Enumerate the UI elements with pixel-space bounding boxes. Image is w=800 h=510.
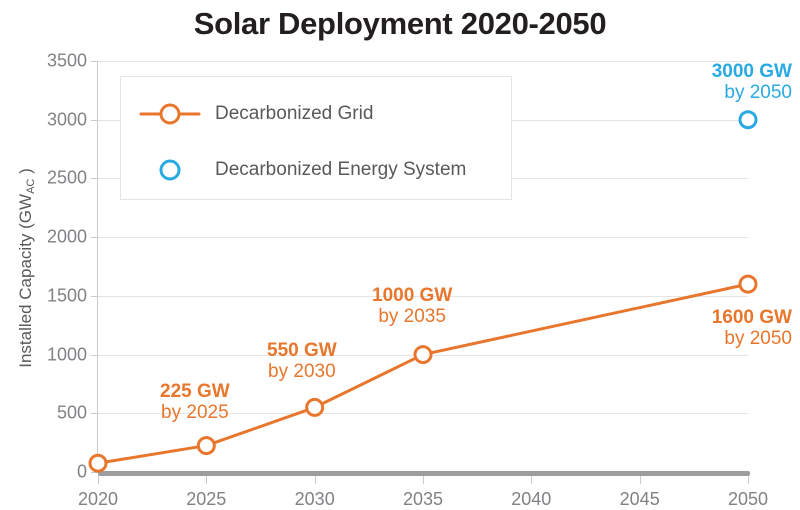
x-tick-mark-2045 [640, 476, 641, 484]
annotation-550gw-line2: by 2030 [267, 362, 337, 383]
annotation-1000gw: 1000 GW by 2035 [372, 286, 452, 327]
annotation-1000gw-line2: by 2035 [372, 307, 452, 328]
y-tick-mark-2500 [91, 178, 98, 179]
y-tick-mark-500 [91, 413, 98, 414]
x-tick-mark-2035 [423, 476, 424, 484]
x-tick-mark-2020 [98, 476, 99, 484]
x-tick-label-2030: 2030 [295, 489, 335, 510]
annotation-3000gw: 3000 GW by 2050 [712, 62, 792, 103]
x-tick-label-2035: 2035 [403, 489, 443, 510]
x-tick-label-2040: 2040 [511, 489, 551, 510]
y-tick-label-500: 500 [57, 403, 87, 424]
y-tick-label-0: 0 [77, 462, 87, 483]
page-title: Solar Deployment 2020-2050 [0, 6, 800, 42]
x-tick-label-2020: 2020 [78, 489, 118, 510]
annotation-1600gw-line1: 1600 GW [712, 308, 792, 329]
annotation-1600gw-line2: by 2050 [712, 329, 792, 350]
y-tick-label-2000: 2000 [47, 227, 87, 248]
decarbonized-energy-system-markers [740, 112, 756, 128]
annotation-225gw: 225 GW by 2025 [160, 382, 230, 423]
legend-label-decarbonized-energy-system: Decarbonized Energy System [215, 159, 466, 181]
y-tick-label-3000: 3000 [47, 109, 87, 130]
y-tick-mark-1000 [91, 355, 98, 356]
y-axis-title: Installed Capacity (GWAC ) [16, 108, 36, 428]
annotation-550gw-line1: 550 GW [267, 341, 337, 362]
y-tick-label-1000: 1000 [47, 344, 87, 365]
data-point [740, 276, 756, 292]
y-tick-mark-3000 [91, 120, 98, 121]
x-tick-mark-2025 [206, 476, 207, 484]
chart-canvas: Solar Deployment 2020-2050 Installed Cap… [0, 0, 800, 510]
annotation-3000gw-line2: by 2050 [712, 83, 792, 104]
legend-open-circle-icon [139, 157, 201, 183]
y-tick-label-1500: 1500 [47, 285, 87, 306]
x-tick-mark-2040 [531, 476, 532, 484]
annotation-550gw: 550 GW by 2030 [267, 341, 337, 382]
annotation-1600gw: 1600 GW by 2050 [712, 308, 792, 349]
data-point [198, 438, 214, 454]
data-point [415, 347, 431, 363]
x-tick-label-2045: 2045 [620, 489, 660, 510]
legend-item-decarbonized-grid[interactable]: Decarbonized Grid [139, 101, 373, 127]
data-point [90, 455, 106, 471]
y-axis-title-subscript: AC [25, 179, 37, 194]
y-tick-mark-1500 [91, 296, 98, 297]
data-point [740, 112, 756, 128]
y-axis-title-tail: ) [16, 168, 35, 178]
x-tick-label-2025: 2025 [186, 489, 226, 510]
y-axis-title-main: Installed Capacity (GW [16, 194, 35, 368]
annotation-3000gw-line1: 3000 GW [712, 62, 792, 83]
y-tick-label-3500: 3500 [47, 51, 87, 72]
annotation-1000gw-line1: 1000 GW [372, 286, 452, 307]
y-tick-mark-3500 [91, 61, 98, 62]
legend-item-decarbonized-energy-system[interactable]: Decarbonized Energy System [139, 157, 466, 183]
legend-line-marker-icon [139, 101, 201, 127]
x-tick-mark-2030 [315, 476, 316, 484]
data-point [307, 399, 323, 415]
annotation-225gw-line1: 225 GW [160, 382, 230, 403]
x-tick-mark-2050 [748, 476, 749, 484]
y-tick-label-2500: 2500 [47, 168, 87, 189]
legend: Decarbonized Grid Decarbonized Energy Sy… [120, 76, 512, 200]
annotation-225gw-line2: by 2025 [160, 403, 230, 424]
legend-label-decarbonized-grid: Decarbonized Grid [215, 103, 373, 125]
x-tick-label-2050: 2050 [728, 489, 768, 510]
y-tick-mark-2000 [91, 237, 98, 238]
